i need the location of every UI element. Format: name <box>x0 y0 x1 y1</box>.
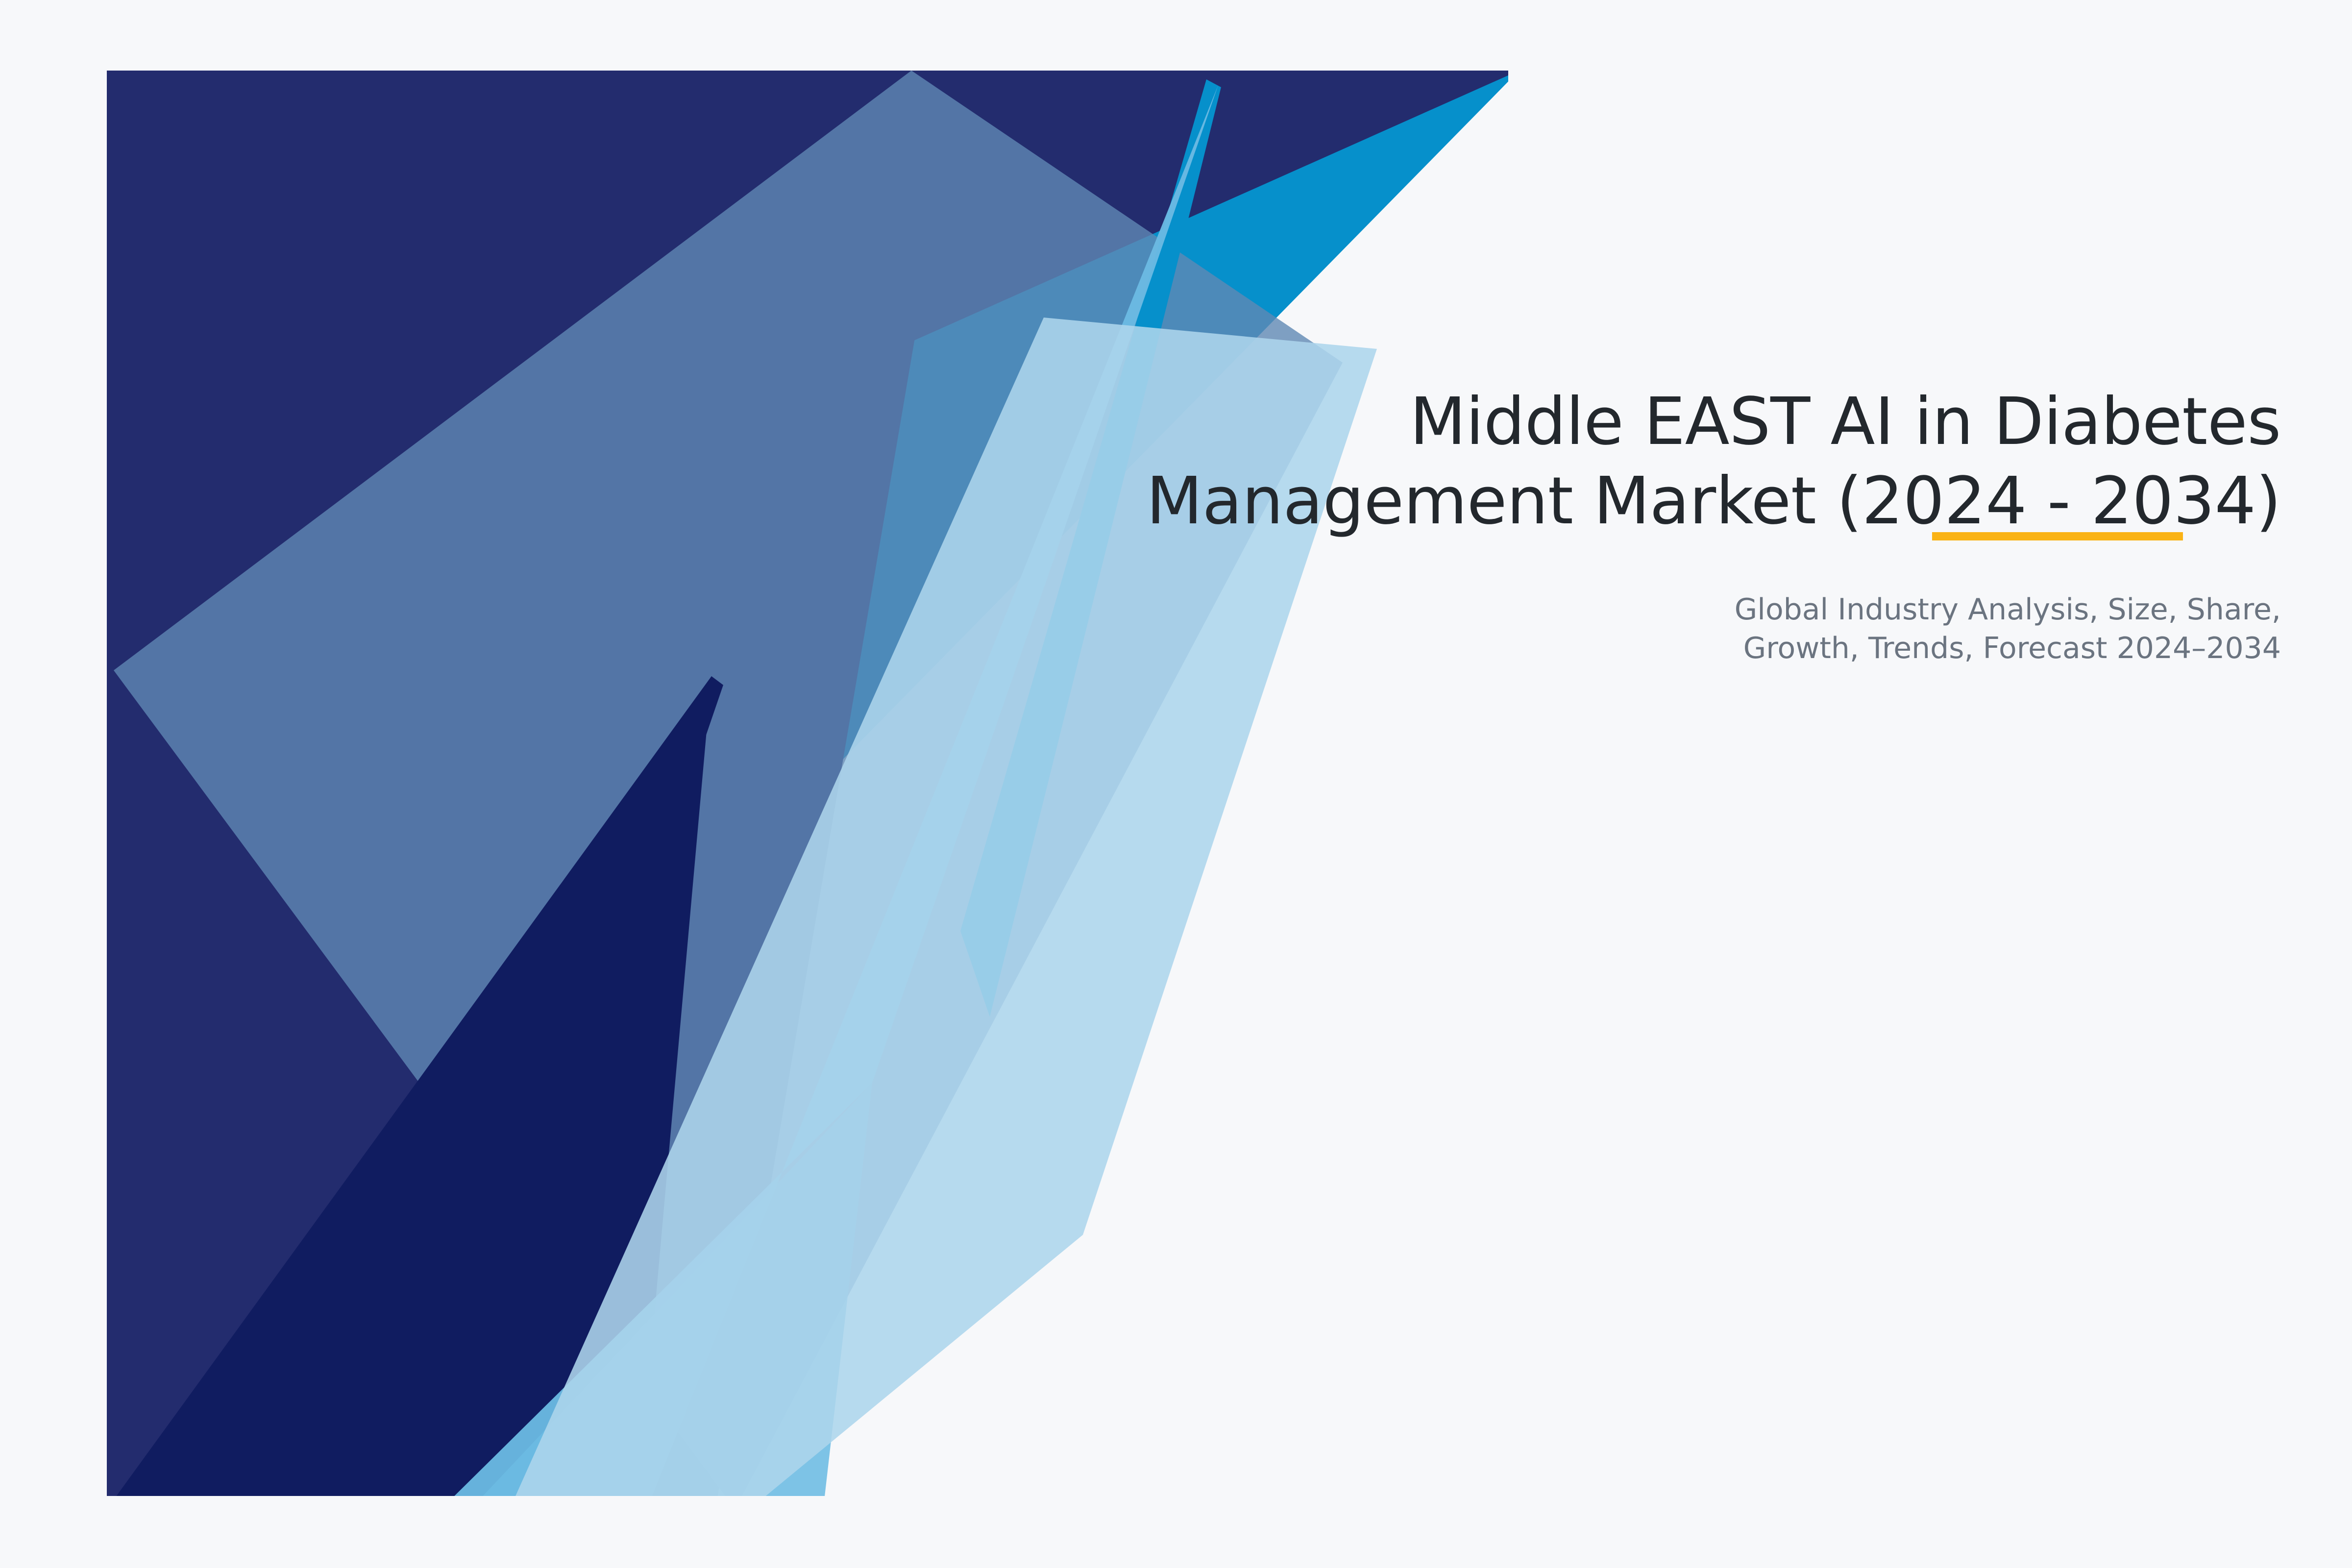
cover-text-block: Middle EAST AI in DiabetesManagement Mar… <box>1080 382 2281 668</box>
page-subtitle-line-1: Global Industry Analysis, Size, Share, <box>1735 592 2281 627</box>
cover-page: Middle EAST AI in DiabetesManagement Mar… <box>0 0 2352 1568</box>
page-subtitle-line-2: Growth, Trends, Forecast 2024–2034 <box>1743 631 2281 665</box>
page-title-line-1: Middle EAST AI in Diabetes <box>1410 384 2281 460</box>
abstract-polygon-graphic <box>0 0 2352 1568</box>
page-title: Middle EAST AI in DiabetesManagement Mar… <box>1080 382 2281 541</box>
page-title-line-2: Management Market (2024 - 2034) <box>1146 464 2281 539</box>
page-subtitle: Global Industry Analysis, Size, Share,Gr… <box>1080 590 2281 669</box>
